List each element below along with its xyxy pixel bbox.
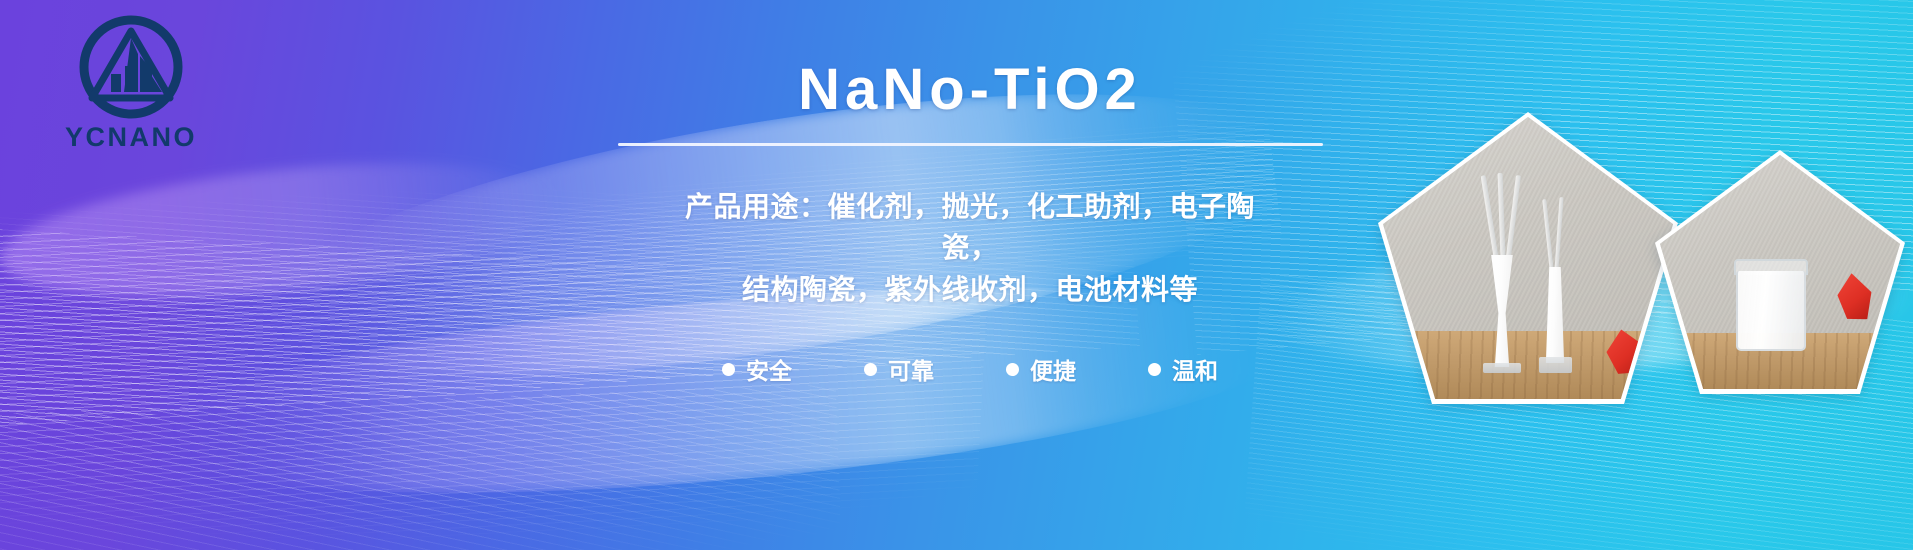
bullet-dot-icon (1148, 363, 1161, 376)
feature-list: 安全 可靠 便捷 温和 (490, 352, 1450, 386)
feature-label: 可靠 (888, 352, 934, 386)
logo-wordmark: YCNANO (36, 122, 226, 153)
feature-item-reliable: 可靠 (864, 352, 934, 386)
feature-label: 安全 (746, 352, 792, 386)
wave-band-bottom-left (0, 384, 844, 550)
bullet-dot-icon (1006, 363, 1019, 376)
pentagon-photo-clip (1383, 117, 1673, 399)
glow-swoosh-left (0, 141, 565, 319)
feature-label: 温和 (1172, 352, 1218, 386)
feature-item-convenient: 便捷 (1006, 352, 1076, 386)
product-scene (1383, 117, 1673, 399)
pentagon-photo-clip (1660, 155, 1900, 389)
banner-content: NaNo-TiO2 产品用途：催化剂，抛光，化工助剂，电子陶瓷， 结构陶瓷，紫外… (490, 60, 1450, 386)
bullet-dot-icon (722, 363, 735, 376)
scene-wall (1383, 117, 1673, 331)
beaker-suspension-photo (1655, 150, 1905, 394)
feature-label: 便捷 (1030, 352, 1076, 386)
product-banner: YCNANO NaNo-TiO2 产品用途：催化剂，抛光，化工助剂，电子陶瓷， … (0, 0, 1913, 550)
ycnano-mountain-emblem-icon (78, 14, 184, 120)
vase-base (1483, 363, 1521, 373)
white-vases-photo (1378, 112, 1678, 404)
usage-line-2: 结构陶瓷，紫外线收剂，电池材料等 (660, 269, 1280, 310)
pentagon-frame (1655, 150, 1905, 394)
beaker-with-white-liquid (1736, 271, 1806, 351)
title-divider (618, 143, 1323, 146)
pentagon-frame (1378, 112, 1678, 404)
vase-base (1539, 357, 1572, 373)
bullet-dot-icon (864, 363, 877, 376)
feature-item-mild: 温和 (1148, 352, 1218, 386)
company-logo[interactable]: YCNANO (36, 14, 226, 164)
product-scene (1660, 155, 1900, 389)
page-title: NaNo-TiO2 (490, 60, 1450, 121)
feature-item-safe: 安全 (722, 352, 792, 386)
product-usage-text: 产品用途：催化剂，抛光，化工助剂，电子陶瓷， 结构陶瓷，紫外线收剂，电池材料等 (660, 186, 1280, 310)
usage-line-1: 产品用途：催化剂，抛光，化工助剂，电子陶瓷， (660, 186, 1280, 269)
